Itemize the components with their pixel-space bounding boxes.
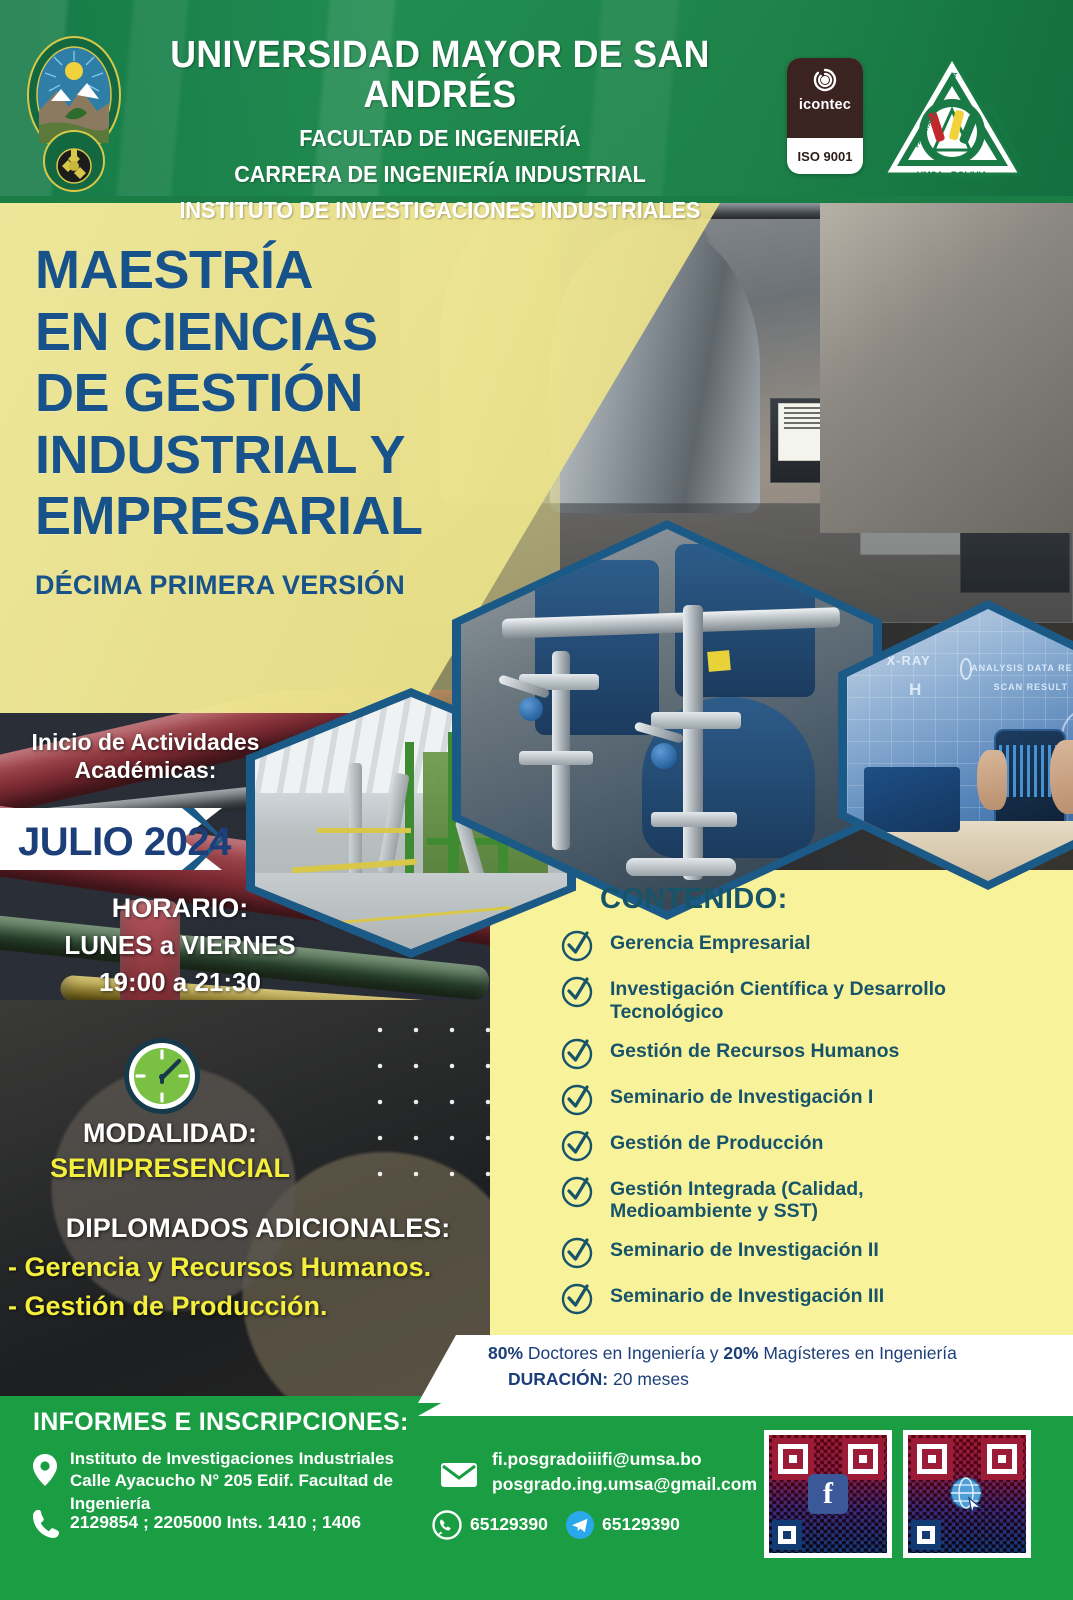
icontec-iso-label: ISO 9001 xyxy=(798,149,853,164)
schedule-heading: HORARIO: xyxy=(20,893,340,924)
footer-title: INFORMES E INSCRIPCIONES: xyxy=(33,1408,409,1437)
start-date-value: JULIO 2024 xyxy=(18,820,231,865)
start-label-line1: Inicio de Actividades xyxy=(28,728,263,756)
decorative-dot-matrix xyxy=(362,1012,512,1202)
diploma-item: - Gerencia y Recursos Humanos. xyxy=(8,1252,508,1283)
institute-name: INSTITUTO DE INVESTIGACIONES INDUSTRIALE… xyxy=(111,197,769,224)
modality-value: SEMIPRESENCIAL xyxy=(10,1153,330,1184)
phone-icon xyxy=(31,1508,61,1540)
footer-telegram[interactable]: 65129390 xyxy=(602,1514,680,1535)
content-item-label: Seminario de Investigación II xyxy=(610,1235,879,1262)
check-circle-icon xyxy=(560,1235,594,1269)
list-item: Gestión Integrada (Calidad, Medioambient… xyxy=(560,1174,1060,1224)
pct-masters: 20% xyxy=(723,1343,758,1363)
whatsapp-icon[interactable] xyxy=(432,1510,462,1540)
start-date-label: Inicio de Actividades Académicas: xyxy=(28,728,263,784)
diploma-item: - Gestión de Producción. xyxy=(8,1291,508,1322)
check-circle-icon xyxy=(560,1174,594,1208)
header-text-block: UNIVERSIDAD MAYOR DE SAN ANDRÉS FACULTAD… xyxy=(90,36,790,224)
pct-doctors: 80% xyxy=(488,1343,523,1363)
check-circle-icon xyxy=(560,1128,594,1162)
list-item: Seminario de Investigación II xyxy=(560,1235,1060,1269)
additional-diplomas-block: DIPLOMADOS ADICIONALES: - Gerencia y Rec… xyxy=(8,1213,508,1322)
content-item-label: Seminario de Investigación III xyxy=(610,1281,884,1308)
qr-code-website[interactable] xyxy=(903,1430,1031,1558)
icontec-logo-icon: icontec ISO 9001 xyxy=(787,58,863,174)
masters-text: Magísteres en Ingeniería xyxy=(758,1343,956,1363)
telegram-icon[interactable] xyxy=(566,1511,594,1539)
footer-whatsapp[interactable]: 65129390 xyxy=(470,1514,548,1535)
check-circle-icon xyxy=(560,974,594,1008)
background-shelf-photo xyxy=(820,203,1073,533)
faculty-seal-icon: UMSA - BOLIVIA FACULTAD DE INGENIERIA IN… xyxy=(880,52,1025,182)
duration-value: 20 meses xyxy=(608,1369,689,1389)
list-item: Seminario de Investigación III xyxy=(560,1281,1060,1315)
list-item: Gestión de Recursos Humanos xyxy=(560,1036,1060,1070)
footer-email-1[interactable]: fi.posgradoiiifi@umsa.bo xyxy=(492,1447,757,1472)
content-item-label: Gerencia Empresarial xyxy=(610,928,811,955)
modality-block: MODALIDAD: SEMIPRESENCIAL xyxy=(10,1118,330,1184)
title-line-3: DE GESTIÓN xyxy=(35,363,555,425)
umsa-seal-icon xyxy=(25,33,123,193)
duration-label: DURACIÓN: xyxy=(508,1369,608,1389)
qr-code-facebook[interactable]: f xyxy=(764,1430,892,1558)
footer-phones[interactable]: 2129854 ; 2205000 Ints. 1410 ; 1406 xyxy=(70,1512,361,1533)
content-item-label: Gestión de Producción xyxy=(610,1128,823,1155)
schedule-block: HORARIO: LUNES a VIERNES 19:00 a 21:30 xyxy=(20,893,340,998)
location-pin-icon xyxy=(31,1453,59,1487)
career-name: CARRERA DE INGENIERÍA INDUSTRIAL xyxy=(111,161,769,188)
schedule-days: LUNES a VIERNES xyxy=(20,930,340,961)
icontec-mark-icon xyxy=(810,65,840,95)
check-circle-icon xyxy=(560,1036,594,1070)
title-line-2: EN CIENCIAS xyxy=(35,302,555,364)
content-title: CONTENIDO: xyxy=(600,883,788,916)
start-label-line2: Académicas: xyxy=(28,756,263,784)
hex-photo-stainless-valves xyxy=(452,520,882,920)
list-item: Seminario de Investigación I xyxy=(560,1082,1060,1116)
check-circle-icon xyxy=(560,1082,594,1116)
check-circle-icon xyxy=(560,1281,594,1315)
content-item-label: Investigación Científica y Desarrollo Te… xyxy=(610,974,1010,1024)
content-item-label: Seminario de Investigación I xyxy=(610,1082,873,1109)
faculty-composition: 80% Doctores en Ingeniería y 20% Magíste… xyxy=(488,1343,957,1364)
globe-icon xyxy=(947,1474,987,1514)
title-line-1: MAESTRÍA xyxy=(35,240,555,302)
modality-heading: MODALIDAD: xyxy=(10,1118,330,1149)
duration-line: DURACIÓN: 20 meses xyxy=(508,1369,689,1390)
hex-photo-digital-tablet: X-RAY H ANALYSIS DATA REPORT SCAN RESULT xyxy=(838,600,1073,890)
envelope-icon xyxy=(440,1461,478,1489)
content-item-label: Gestión Integrada (Calidad, Medioambient… xyxy=(610,1174,940,1224)
doctors-text: Doctores en Ingeniería y xyxy=(523,1343,723,1363)
list-item: Investigación Científica y Desarrollo Te… xyxy=(560,974,1060,1024)
university-name: UNIVERSIDAD MAYOR DE SAN ANDRÉS xyxy=(111,36,769,116)
poster-root: UNIVERSIDAD MAYOR DE SAN ANDRÉS FACULTAD… xyxy=(0,0,1073,1600)
facebook-icon: f xyxy=(808,1474,848,1514)
icontec-wordmark: icontec xyxy=(799,97,851,113)
title-line-4: INDUSTRIAL Y xyxy=(35,425,555,487)
check-circle-icon xyxy=(560,928,594,962)
footer-emails[interactable]: fi.posgradoiiifi@umsa.bo posgrado.ing.um… xyxy=(492,1447,757,1497)
footer-top-cut xyxy=(418,1396,1073,1416)
svg-text:UMSA - BOLIVIA: UMSA - BOLIVIA xyxy=(917,170,988,180)
clock-icon xyxy=(122,1036,202,1116)
list-item: Gerencia Empresarial xyxy=(560,928,1060,962)
schedule-hours: 19:00 a 21:30 xyxy=(20,967,340,998)
content-item-label: Gestión de Recursos Humanos xyxy=(610,1036,899,1063)
content-list: Gerencia Empresarial Investigación Cient… xyxy=(560,928,1060,1327)
faculty-name: FACULTAD DE INGENIERÍA xyxy=(111,125,769,152)
footer-email-2[interactable]: posgrado.ing.umsa@gmail.com xyxy=(492,1472,757,1497)
list-item: Gestión de Producción xyxy=(560,1128,1060,1162)
diplomas-heading: DIPLOMADOS ADICIONALES: xyxy=(8,1213,508,1244)
footer-address: Instituto de Investigaciones Industriale… xyxy=(70,1448,420,1515)
